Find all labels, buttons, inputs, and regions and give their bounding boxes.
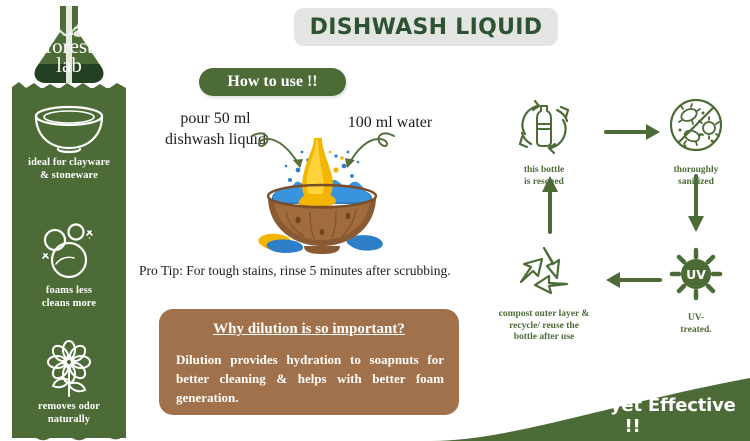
arrow-down-right-icon bbox=[686, 174, 706, 236]
bowl-icon bbox=[28, 98, 110, 154]
cycle-node-label: compost outer layer & recycle/ reuse the… bbox=[492, 309, 596, 344]
sidebar-item-clayware: ideal for clayware & stoneware bbox=[12, 98, 126, 182]
brand-logo: forest lab bbox=[26, 2, 112, 86]
sidebar-item-removes-odor: removes odor naturally bbox=[12, 340, 126, 426]
bottle-recycle-icon bbox=[513, 96, 575, 158]
poster-root: forest lab ideal for clayware & stonewar… bbox=[0, 0, 750, 441]
how-to-use-label: How to use !! bbox=[227, 73, 317, 91]
page-title: DISHWASH LIQUID bbox=[310, 15, 543, 40]
sidebar-item-label: removes odor naturally bbox=[12, 401, 126, 426]
cycle-node-uv-treated: UV UV- treated. bbox=[644, 244, 748, 336]
bubbles-icon bbox=[28, 222, 110, 282]
page-title-badge: DISHWASH LIQUID bbox=[294, 8, 558, 46]
flask-leaf-logo-icon: forest lab bbox=[26, 2, 112, 86]
arrow-left-bottom-icon bbox=[600, 270, 662, 290]
dilution-box-title: Why dilution is so important? bbox=[159, 321, 459, 338]
uv-badge-text: UV bbox=[686, 267, 706, 282]
arrow-up-left-icon bbox=[540, 172, 560, 234]
bowl-illustration bbox=[252, 132, 392, 260]
recycle-triangle-icon bbox=[513, 244, 575, 302]
sidebar-item-label: foams less cleans more bbox=[12, 285, 126, 310]
uv-sun-icon: UV bbox=[665, 244, 727, 306]
how-to-use-pill: How to use !! bbox=[199, 68, 346, 96]
no-germs-icon bbox=[665, 96, 727, 158]
cycle-node-label: UV- treated. bbox=[644, 313, 748, 336]
dilution-box-body: Dilution provides hydration to soapnuts … bbox=[176, 350, 444, 407]
sidebar-item-label: ideal for clayware & stoneware bbox=[12, 157, 126, 182]
arrow-right-top-icon bbox=[604, 122, 664, 142]
banner-torn-edge-bottom bbox=[12, 430, 126, 441]
flower-icon bbox=[28, 340, 110, 398]
cycle-node-compost-recycle: compost outer layer & recycle/ reuse the… bbox=[492, 244, 596, 344]
sidebar-item-foams-less: foams less cleans more bbox=[12, 222, 126, 310]
logo-text-line2: lab bbox=[56, 53, 82, 77]
pro-tip-text: Pro Tip: For tough stains, rinse 5 minut… bbox=[139, 263, 499, 279]
lifecycle-diagram: this bottle is rescued bbox=[492, 96, 748, 342]
footer-tagline: Natural yet Effective !! bbox=[520, 395, 745, 437]
dilution-info-box: Why dilution is so important? Dilution p… bbox=[159, 309, 459, 415]
